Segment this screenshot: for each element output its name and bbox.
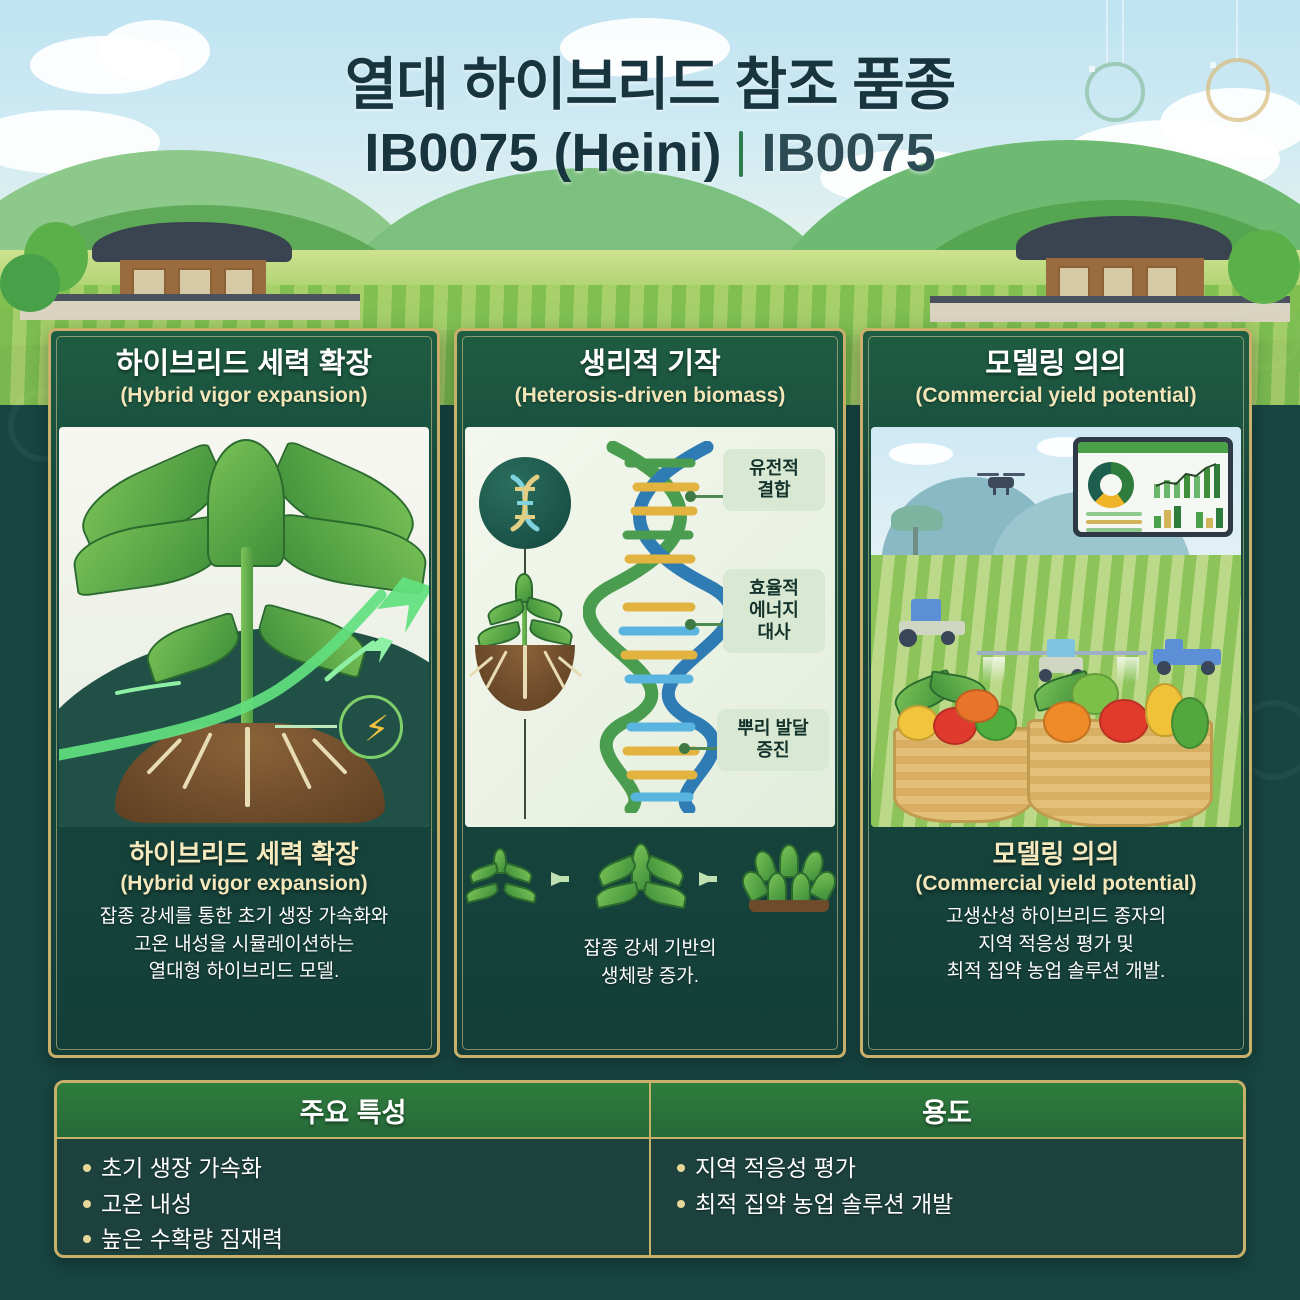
pepper-orange <box>955 689 999 723</box>
use-label: 지역 적응성 평가 <box>695 1151 856 1187</box>
seedling-leaf <box>485 598 526 626</box>
dna-emblem-icon <box>479 457 571 549</box>
list-item: 높은 수확량 짐재력 <box>83 1222 623 1258</box>
list-line <box>1086 512 1142 516</box>
panel-2-description: 잡종 강세 기반의 생체량 증가. <box>465 935 835 990</box>
panel-3-description: 고생산성 하이브리드 종자의 지역 적응성 평가 및 최적 집약 농업 솔루션 … <box>881 903 1231 986</box>
medallion-string <box>1236 0 1238 60</box>
callout-energy-metabolism: 효율적 에너지 대사 <box>723 569 825 653</box>
seedling-root <box>485 650 507 688</box>
tree <box>1228 230 1300 304</box>
page-title-korean: 열대 하이브리드 참조 품종 <box>0 52 1300 119</box>
harvester-cab <box>1165 639 1183 651</box>
bullet-icon <box>83 1164 91 1172</box>
tractor-wheel <box>899 629 917 647</box>
plant-leaf <box>641 881 688 910</box>
callout-genetic-combination: 유전적 결합 <box>723 449 825 511</box>
mini-bar <box>1206 518 1213 528</box>
plant-leaf <box>464 882 500 904</box>
root-soil-bowl <box>475 645 575 711</box>
hanok-left <box>92 216 302 326</box>
panel-2-illustration: 유전적 결합 효율적 에너지 대사 뿌리 발달 증진 <box>465 427 835 827</box>
dashboard-toolbar <box>1078 442 1228 453</box>
panel-1-illustration: ⚡ <box>59 427 429 827</box>
list-item: 최적 집약 농업 솔루션 개발 <box>677 1187 1217 1223</box>
panel-3-footer-title-en: (Commercial yield potential) <box>881 872 1231 896</box>
plant-leaf <box>502 882 538 904</box>
spray-mist <box>1117 657 1139 683</box>
hanok-roof <box>1016 216 1232 260</box>
seedling-leaf <box>523 596 564 624</box>
seedling-root <box>469 656 494 678</box>
callout-node <box>685 619 696 630</box>
hanok-door <box>1102 266 1134 300</box>
panel-3-footer: 모델링 의의 (Commercial yield potential) 고생산성… <box>871 827 1241 986</box>
panel-3-footer-title-ko: 모델링 의의 <box>881 839 1231 870</box>
trait-label: 고온 내성 <box>101 1187 192 1223</box>
growth-stage-juvenile <box>595 845 685 913</box>
harvester-wheel <box>1157 661 1171 675</box>
growth-stage-strip <box>465 833 835 925</box>
table-header-uses: 용도 <box>649 1083 1243 1137</box>
summary-table: 주요 특성 용도 초기 생장 가속화 고온 내성 높은 수확량 짐재력 지역 적… <box>54 1080 1246 1258</box>
page-title-block: 열대 하이브리드 참조 품종 IB0075 (Heini) IB0075 <box>0 52 1300 186</box>
tree-trunk <box>913 527 918 555</box>
bar-group <box>1194 506 1228 528</box>
panel-modeling-significance[interactable]: 모델링 의의 (Commercial yield potential) <box>860 328 1252 1058</box>
panel-1-footer-title-ko: 하이브리드 세력 확장 <box>69 839 419 870</box>
seedling-leaf <box>528 619 575 647</box>
energy-badge: ⚡ <box>339 695 403 759</box>
list-item: 초기 생장 가속화 <box>83 1151 623 1187</box>
callout-node <box>685 491 696 502</box>
callout-root-development: 뿌리 발달 증진 <box>717 709 829 771</box>
panel-2-title-ko: 생리적 기작 <box>465 348 835 381</box>
hanok-door <box>1058 266 1090 300</box>
dna-emblem-badge <box>479 457 571 549</box>
list-line <box>1086 520 1142 524</box>
panel-1-title-en: (Hybrid vigor expansion) <box>59 384 429 408</box>
seedling-root <box>543 650 565 688</box>
pepper-orange <box>1043 701 1091 743</box>
mini-bar <box>1164 510 1171 528</box>
panel-2-header: 생리적 기작 (Heterosis-driven biomass) <box>465 339 835 427</box>
soil-strip <box>749 900 829 912</box>
bullet-icon <box>677 1200 685 1208</box>
line-chart <box>1150 460 1228 500</box>
tree <box>0 254 60 312</box>
growth-arrow-icon <box>699 872 729 886</box>
seedling-root <box>558 656 583 678</box>
mini-bar <box>1154 516 1161 528</box>
panel-3-title-en: (Commercial yield potential) <box>871 384 1241 408</box>
panel-1-header: 하이브리드 세력 확장 (Hybrid vigor expansion) <box>59 339 429 427</box>
badge-connector <box>275 725 337 728</box>
drone-body <box>988 477 1014 488</box>
cloud <box>889 443 953 465</box>
trait-label: 높은 수확량 짐재력 <box>101 1222 283 1258</box>
growth-arrow-small <box>59 427 429 827</box>
page-title-code-line: IB0075 (Heini) IB0075 <box>0 121 1300 186</box>
bullet-icon <box>83 1235 91 1243</box>
drone-leg <box>1006 487 1009 495</box>
panel-3-title-ko: 모델링 의의 <box>871 348 1241 381</box>
callout-node <box>679 743 690 754</box>
harvester-right <box>1153 639 1225 679</box>
table-header-traits: 주요 특성 <box>57 1083 649 1137</box>
mini-bar <box>1196 512 1203 528</box>
tablet-dashboard[interactable] <box>1073 437 1233 537</box>
hanok-wall <box>20 294 360 320</box>
trait-label: 초기 생장 가속화 <box>101 1151 262 1187</box>
harvester-wheel <box>1201 661 1215 675</box>
tractor-cab <box>911 599 941 623</box>
lightning-bolt-icon: ⚡ <box>364 711 389 747</box>
page-title-id: IB0075 <box>761 121 935 186</box>
seedling-root <box>523 645 527 699</box>
cucumber-green <box>1171 697 1209 749</box>
panel-1-description: 잡종 강세를 통한 초기 생장 가속화와 고온 내성을 시뮬레이션하는 열대형 … <box>69 903 419 986</box>
spray-mist <box>983 657 1005 683</box>
drone-propeller <box>1003 473 1025 476</box>
sprayer-cab <box>1047 639 1075 659</box>
donut-chart <box>1088 462 1134 508</box>
panel-2-title-en: (Heterosis-driven biomass) <box>465 384 835 408</box>
seedling-connector-line <box>524 719 526 819</box>
panel-1-footer: 하이브리드 세력 확장 (Hybrid vigor expansion) 잡종 … <box>59 827 429 986</box>
panel-hybrid-vigor[interactable]: 하이브리드 세력 확장 (Hybrid vigor expansion) <box>48 328 440 1058</box>
tractor-left <box>897 599 969 645</box>
tractor-wheel <box>941 631 955 645</box>
hanok-door <box>1146 266 1178 300</box>
growth-stage-mature <box>743 844 835 914</box>
list-line <box>1086 528 1142 532</box>
use-label: 최적 집약 농업 솔루션 개발 <box>695 1187 953 1223</box>
table-header-row: 주요 특성 용도 <box>57 1083 1243 1139</box>
bullet-icon <box>83 1200 91 1208</box>
plant-leaf <box>468 862 501 885</box>
list-item: 고온 내성 <box>83 1187 623 1223</box>
drone-leg <box>993 487 996 495</box>
bullet-icon <box>677 1164 685 1172</box>
mini-bar <box>1174 506 1181 528</box>
drone-icon <box>977 469 1025 495</box>
list-item: 지역 적응성 평가 <box>677 1151 1217 1187</box>
panel-1-footer-title-en: (Hybrid vigor expansion) <box>69 872 419 896</box>
hanok-roof <box>92 222 292 262</box>
dashboard-list <box>1086 512 1142 532</box>
title-divider <box>739 131 743 177</box>
tomato-red <box>1099 699 1149 743</box>
line-chart-icon <box>1150 460 1228 500</box>
table-cell-uses: 지역 적응성 평가 최적 집약 농업 솔루션 개발 <box>649 1139 1243 1258</box>
panel-3-header: 모델링 의의 (Commercial yield potential) <box>871 339 1241 427</box>
page-title-variety: IB0075 (Heini) <box>364 121 721 186</box>
plant-leaf <box>502 862 535 885</box>
panel-3-illustration <box>871 427 1241 827</box>
panel-row: 하이브리드 세력 확장 (Hybrid vigor expansion) <box>48 328 1252 1058</box>
panel-physiological-mechanism[interactable]: 생리적 기작 (Heterosis-driven biomass) <box>454 328 846 1058</box>
dashboard-screen <box>1078 442 1228 532</box>
panel-1-title-ko: 하이브리드 세력 확장 <box>59 348 429 381</box>
mini-bar <box>1216 508 1223 528</box>
bar-group <box>1152 506 1186 528</box>
growth-arrow-icon <box>551 872 581 886</box>
drone-propeller <box>977 473 999 476</box>
hanok-right <box>1016 208 1246 328</box>
growth-stage-seedling <box>465 846 537 912</box>
table-body-row: 초기 생장 가속화 고온 내성 높은 수확량 짐재력 지역 적응성 평가 최적 … <box>57 1139 1243 1258</box>
table-cell-traits: 초기 생장 가속화 고온 내성 높은 수확량 짐재력 <box>57 1139 649 1258</box>
